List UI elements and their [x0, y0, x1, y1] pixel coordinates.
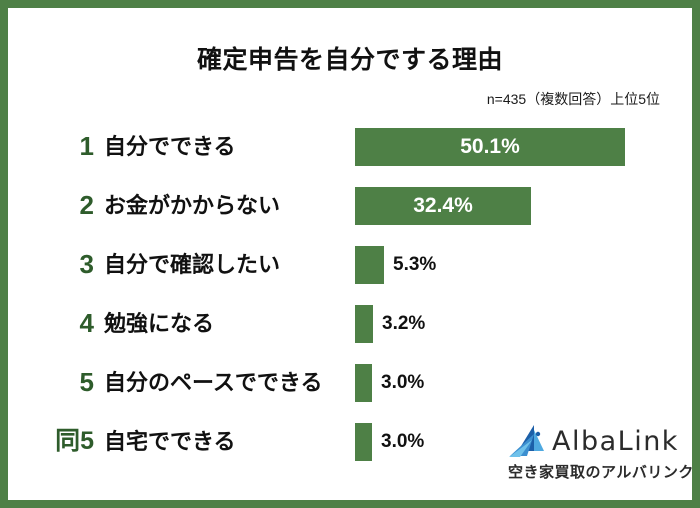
category-label: お金がかからない	[104, 176, 280, 235]
rank-number: 4	[28, 294, 94, 353]
rank-number: 5	[28, 353, 94, 412]
rank-number: 1	[28, 117, 94, 176]
bar-value-label: 3.2%	[382, 313, 425, 335]
bar-value-label: 3.0%	[381, 372, 424, 394]
chart-row: 1自分でできる50.1%	[0, 117, 700, 176]
bar	[355, 423, 372, 461]
albalink-logo: AlbaLink 空き家買取のアルバリンク	[508, 423, 686, 483]
bar: 50.1%	[355, 128, 625, 166]
infographic-card: 確定申告を自分でする理由 n=435（複数回答）上位5位 1自分でできる50.1…	[0, 0, 700, 508]
category-label: 自分で確認したい	[104, 235, 280, 294]
border-bottom	[0, 500, 700, 508]
bar-area: 5.3%	[355, 235, 436, 294]
chart-row: 5自分のペースでできる3.0%	[0, 353, 700, 412]
albalink-triangle-icon	[508, 424, 546, 458]
bar	[355, 305, 373, 343]
category-label: 自宅でできる	[104, 412, 236, 471]
logo-tagline: 空き家買取のアルバリンク	[508, 461, 686, 482]
bar	[355, 364, 372, 402]
logo-wordmark: AlbaLink	[552, 426, 679, 457]
bar-area: 32.4%	[355, 176, 531, 235]
chart-row: 4勉強になる3.2%	[0, 294, 700, 353]
bar	[355, 246, 384, 284]
bar-area: 50.1%	[355, 117, 625, 176]
category-label: 勉強になる	[104, 294, 214, 353]
page-title: 確定申告を自分でする理由	[0, 40, 700, 76]
logo-row: AlbaLink	[508, 423, 686, 459]
chart-row: 3自分で確認したい5.3%	[0, 235, 700, 294]
chart-row: 2お金がかからない32.4%	[0, 176, 700, 235]
bar-area: 3.0%	[355, 412, 424, 471]
bar-value-label: 32.4%	[413, 194, 473, 218]
bar-area: 3.2%	[355, 294, 425, 353]
bar-value-label: 3.0%	[381, 431, 424, 453]
bar-value-label: 5.3%	[393, 254, 436, 276]
ranking-bar-chart: 1自分でできる50.1%2お金がかからない32.4%3自分で確認したい5.3%4…	[0, 117, 700, 471]
sample-size-note: n=435（複数回答）上位5位	[487, 89, 660, 109]
rank-number: 3	[28, 235, 94, 294]
rank-number: 同5	[28, 412, 94, 471]
bar-value-label: 50.1%	[460, 135, 520, 159]
category-label: 自分でできる	[104, 117, 236, 176]
category-label: 自分のペースでできる	[104, 353, 322, 412]
rank-number: 2	[28, 176, 94, 235]
bar: 32.4%	[355, 187, 531, 225]
border-top	[0, 0, 700, 8]
bar-area: 3.0%	[355, 353, 424, 412]
